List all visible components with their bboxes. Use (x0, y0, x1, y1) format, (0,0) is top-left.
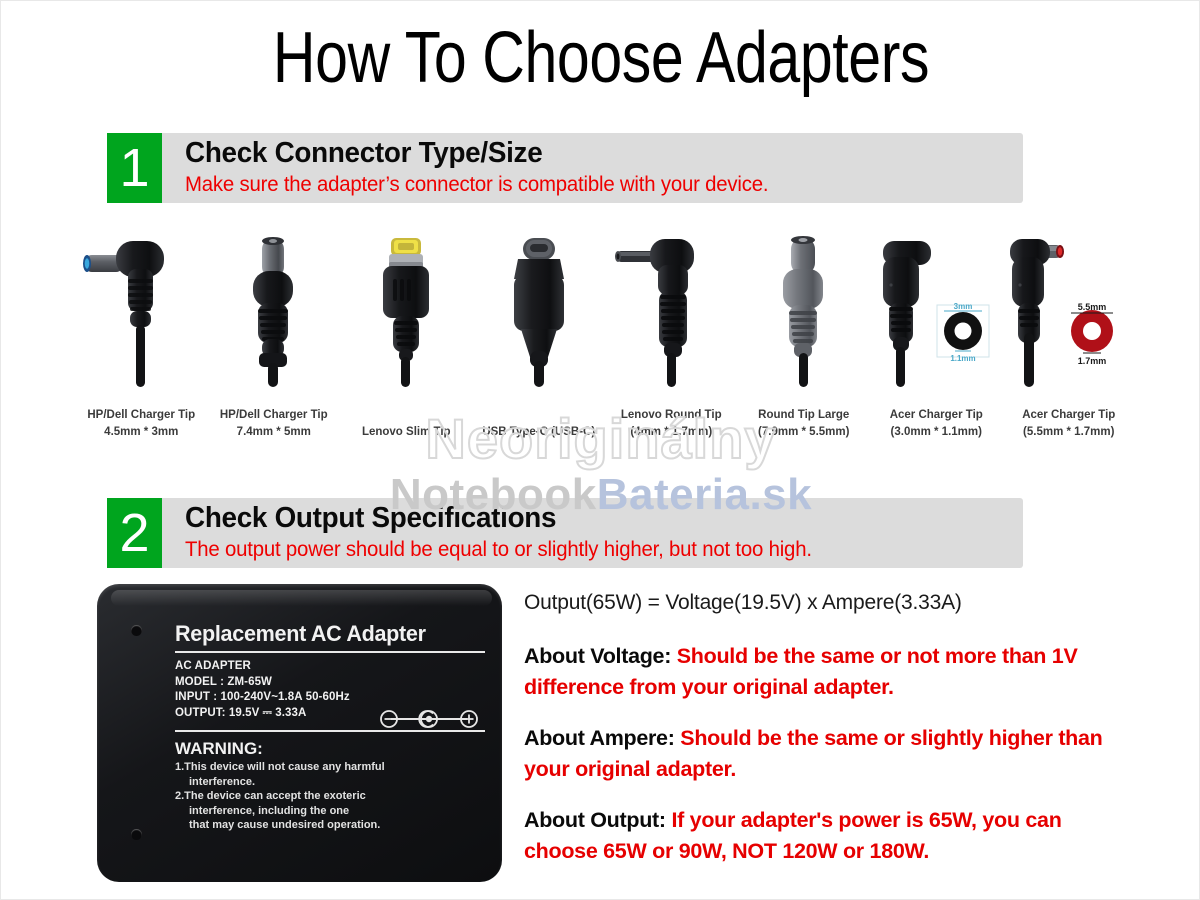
adapter-warning-line: that may cause undesired operation. (175, 818, 485, 833)
spec-paragraph-ampere: About Ampere: Should be the same or slig… (524, 723, 1104, 785)
step-2-header: 2 Check Output Specifications The output… (107, 498, 1023, 568)
divider (175, 730, 485, 732)
spec-key-voltage: About Voltage: (524, 644, 671, 668)
step-2-badge: 2 (107, 498, 162, 568)
step-1-heading: Check Connector Type/Size (185, 136, 982, 171)
screw-hole-icon (131, 625, 142, 636)
svg-text:1.1mm: 1.1mm (951, 354, 976, 363)
right-angle-barrel-blue-tip-icon (75, 233, 208, 388)
connector-item-usb-c: USB Type-C (USB-C) (473, 233, 606, 443)
spec-paragraph-output: About Output: If your adapter's power is… (524, 805, 1104, 867)
spec-key-output: About Output: (524, 808, 666, 832)
connector-item-hp-dell-7.4: HP/Dell Charger Tip 7.4mm * 5mm (208, 233, 341, 443)
ac-adapter-photo: Replacement AC Adapter AC ADAPTER MODEL … (97, 584, 502, 882)
connector-item-acer-large: 5.5mm 1.7mm Acer Charger Tip (5.5mm * 1.… (1003, 233, 1136, 443)
acer-right-angle-red-ring-icon: 5.5mm 1.7mm (1003, 233, 1136, 388)
svg-text:3mm: 3mm (954, 302, 973, 311)
connector-gallery: HP/Dell Charger Tip 4.5mm * 3mm (75, 233, 1135, 443)
connector-item-hp-dell-4.5: HP/Dell Charger Tip 4.5mm * 3mm (75, 233, 208, 443)
connector-label: Lenovo Slim Tip (334, 424, 479, 441)
adapter-input-text: INPUT : 100-240V~1.8A 50-60Hz (175, 690, 485, 706)
acer-right-angle-black-ring-icon: 3mm 1.1mm (870, 233, 1003, 388)
spec-paragraph-voltage: About Voltage: Should be the same or not… (524, 641, 1104, 703)
lenovo-slim-rectangular-tip-icon (340, 233, 473, 388)
adapter-warning-line: interference. (175, 775, 485, 790)
usb-type-c-tip-icon (473, 233, 606, 388)
straight-barrel-silver-pin-icon (208, 233, 341, 388)
connector-label: Lenovo Round Tip (4mm * 1.7mm) (599, 407, 744, 441)
output-spec-explanations: Output(65W) = Voltage(19.5V) x Ampere(3.… (524, 589, 1104, 887)
polarity-symbol-icon (377, 708, 481, 730)
spec-key-ampere: About Ampere: (524, 726, 675, 750)
connector-item-lenovo-round: Lenovo Round Tip (4mm * 1.7mm) (605, 233, 738, 443)
step-2-subtitle: The output power should be equal to or s… (185, 536, 990, 564)
connector-label: Round Tip Large (7.9mm * 5.5mm) (732, 407, 877, 441)
svg-text:1.7mm: 1.7mm (1077, 356, 1106, 366)
connector-item-acer-small: 3mm 1.1mm Acer Charger Tip (3.0mm * 1.1m… (870, 233, 1003, 443)
adapter-warning-title: WARNING: (175, 738, 485, 760)
adapter-warning-line: 2.The device can accept the exoteric (175, 789, 485, 804)
connector-item-round-large: Round Tip Large (7.9mm * 5.5mm) (738, 233, 871, 443)
connector-label: USB Type-C (USB-C) (467, 424, 612, 441)
step-1-badge: 1 (107, 133, 162, 203)
adapter-warning-line: interference, including the one (175, 804, 485, 819)
svg-text:5.5mm: 5.5mm (1077, 302, 1106, 312)
right-angle-thin-barrel-icon (605, 233, 738, 388)
step-2-heading: Check Output Specifications (185, 501, 982, 536)
screw-hole-icon (131, 829, 142, 840)
connector-label: Acer Charger Tip (3.0mm * 1.1mm) (864, 407, 1009, 441)
connector-label: HP/Dell Charger Tip 7.4mm * 5mm (202, 407, 347, 441)
connector-label: HP/Dell Charger Tip 4.5mm * 3mm (69, 407, 214, 441)
output-formula-text: Output(65W) = Voltage(19.5V) x Ampere(3.… (524, 589, 1104, 617)
step-1-texts: Check Connector Type/Size Make sure the … (185, 136, 1015, 199)
page-title: How To Choose Adapters (109, 15, 1093, 101)
connector-label: Acer Charger Tip (5.5mm * 1.7mm) (997, 407, 1142, 441)
step-1-header: 1 Check Connector Type/Size Make sure th… (107, 133, 1023, 203)
adapter-warning-line: 1.This device will not cause any harmful (175, 760, 485, 775)
adapter-label-plate: Replacement AC Adapter AC ADAPTER MODEL … (175, 620, 485, 848)
gray-straight-barrel-icon (738, 233, 871, 388)
adapter-model-text: MODEL : ZM-65W (175, 675, 485, 691)
step-1-subtitle: Make sure the adapter’s connector is com… (185, 171, 990, 199)
adapter-type-text: AC ADAPTER (175, 659, 485, 675)
connector-item-lenovo-slim: Lenovo Slim Tip (340, 233, 473, 443)
step-2-texts: Check Output Specifications The output p… (185, 501, 1015, 564)
adapter-brand-text: Replacement AC Adapter (175, 620, 479, 647)
divider (175, 651, 485, 653)
